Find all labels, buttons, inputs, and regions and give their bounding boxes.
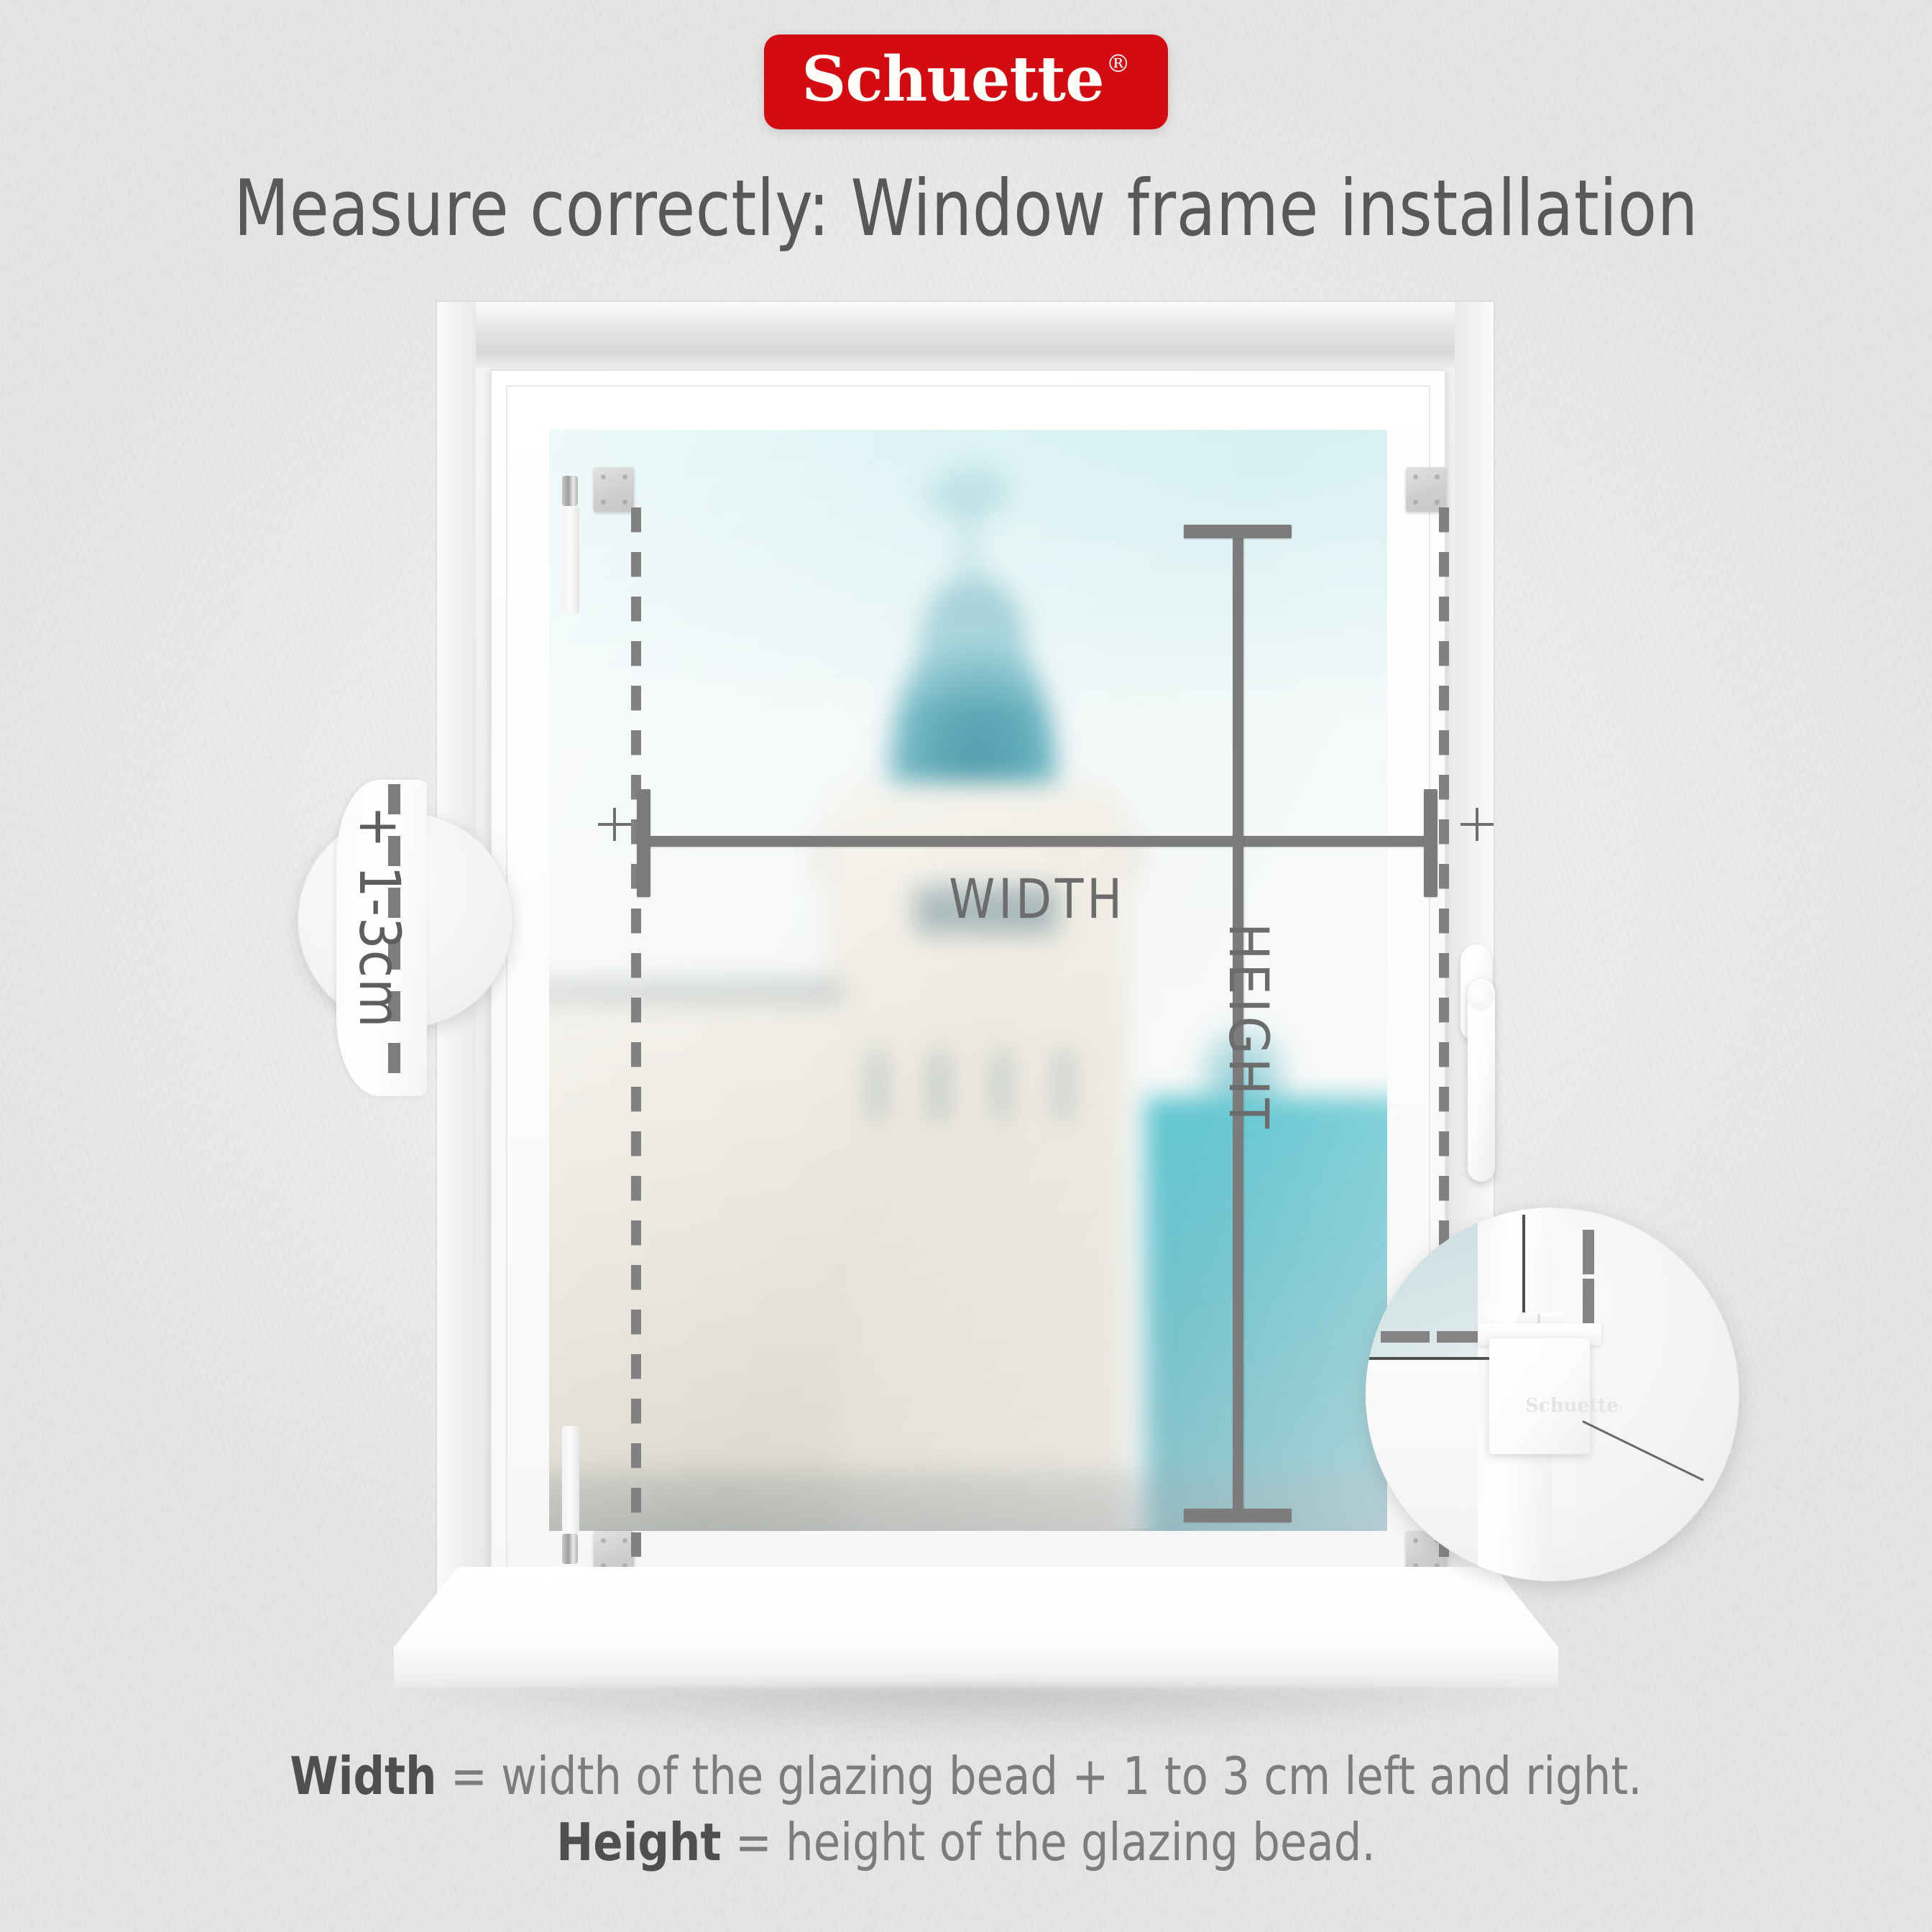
brand-logo-badge: Schuette ®: [764, 34, 1167, 129]
mounting-bracket-top-right: [1406, 467, 1446, 512]
width-dimension-line: WIDTH: [631, 832, 1443, 847]
registered-trademark-icon: ®: [1106, 52, 1131, 76]
window-detail: [995, 1050, 1008, 1120]
footer-line-width: Width = width of the glazing bead + 1 to…: [58, 1743, 1874, 1809]
width-label: WIDTH: [651, 867, 1423, 931]
detail-dash-b: [1583, 1279, 1594, 1323]
detail-bracket-brand: Schuette: [1525, 1395, 1619, 1417]
height-dimension-line: HEIGHT: [1229, 520, 1243, 1527]
height-endcap-bottom: [1184, 1509, 1292, 1522]
window-detail: [1057, 1050, 1071, 1120]
window-handle[interactable]: [1460, 944, 1492, 1182]
detail-dash-a: [1583, 1230, 1594, 1274]
sill-shadow: [417, 1686, 1535, 1736]
window-detail: [870, 1050, 884, 1120]
brand-logo-text: Schuette: [801, 49, 1103, 111]
wall-reveal-lintel: [437, 302, 1494, 368]
footer-height-text: = height of the glazing bead.: [721, 1812, 1375, 1872]
height-label: HEIGHT: [1217, 923, 1281, 1132]
page-title: Measure correctly: Window frame installa…: [78, 164, 1855, 254]
glass-top-tint: [549, 430, 1387, 716]
left-building: [549, 1003, 844, 1531]
dashed-guide-left: [631, 507, 641, 1557]
detail-leader-line: [1582, 1421, 1704, 1482]
bracket-detail-callout: Schuette: [1366, 1207, 1739, 1581]
footer-line-height: Height = height of the glazing bead.: [58, 1809, 1874, 1875]
tolerance-callout-label: + 1-3cm: [346, 806, 411, 1029]
plus-marker-left-icon: [598, 808, 631, 841]
window-frame: WIDTH HEIGHT: [490, 369, 1446, 1591]
width-endcap-right: [1424, 789, 1437, 897]
brand-logo-container: Schuette ®: [0, 34, 1932, 129]
window-detail: [933, 1050, 947, 1120]
window-diagram: WIDTH HEIGHT: [402, 287, 1524, 1639]
detail-bracket-body: Schuette: [1489, 1338, 1590, 1454]
right-building: [1146, 1097, 1387, 1531]
footer-width-keyword: Width: [290, 1746, 436, 1806]
tolerance-callout: + 1-3cm: [298, 765, 513, 1110]
detail-edge-line-vertical: [1522, 1215, 1525, 1320]
hinge-body-bottom: [562, 1426, 579, 1534]
hinge-bottom: [562, 1534, 578, 1564]
sill-front-edge: [394, 1646, 1558, 1688]
detail-dash-c: [1381, 1331, 1430, 1343]
mounting-bracket-top-left: [594, 467, 634, 512]
window-sash: [506, 385, 1430, 1575]
footer-notes: Width = width of the glazing bead + 1 to…: [0, 1743, 1932, 1875]
footer-height-keyword: Height: [556, 1812, 721, 1872]
hinge-top: [562, 476, 578, 506]
width-dimension-bar: [644, 836, 1430, 847]
handle-pivot: [1468, 982, 1494, 1011]
footer-width-text: = width of the glazing bead + 1 to 3 cm …: [436, 1746, 1642, 1806]
width-endcap-left: [637, 789, 650, 897]
hinge-body-top: [562, 506, 579, 614]
height-endcap-top: [1184, 525, 1292, 538]
bracket-detail-circle: Schuette: [1366, 1207, 1739, 1581]
plus-marker-right-icon: [1460, 808, 1494, 841]
window-sill: [394, 1567, 1558, 1693]
